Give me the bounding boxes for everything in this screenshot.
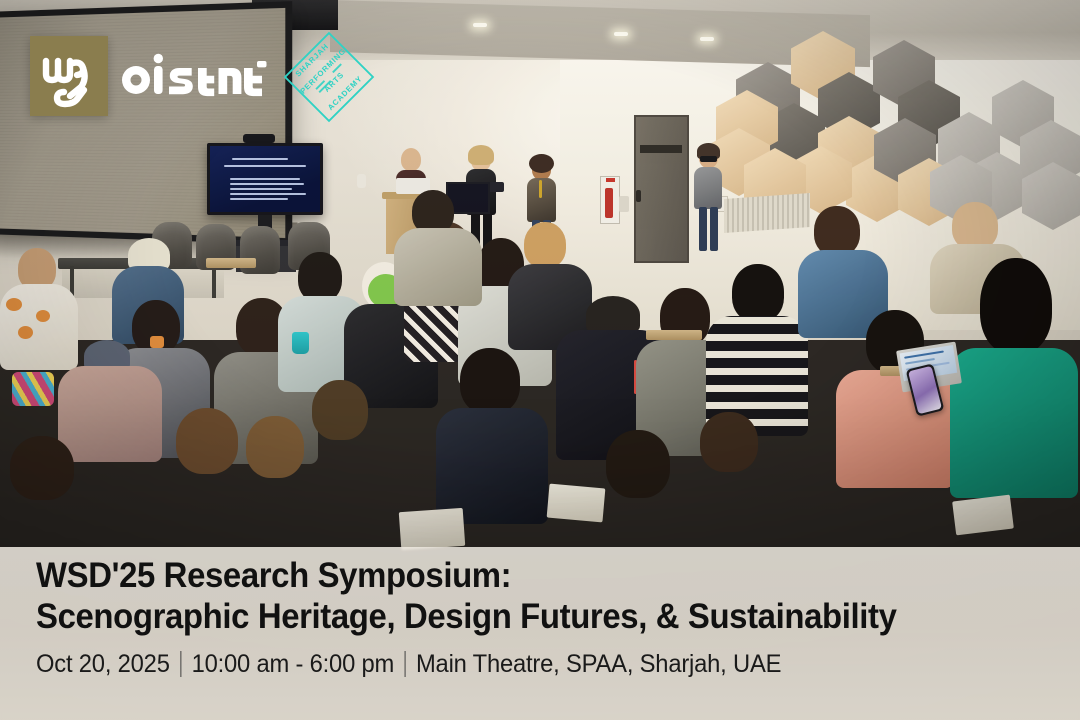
- logo-row: [30, 36, 268, 116]
- meta-divider: [180, 651, 181, 677]
- poster-canvas: SHARJAH PERFORMING ARTS ACADEMY: [0, 0, 1080, 720]
- attendee-head: [460, 348, 520, 414]
- banner-text-block: WSD'25 Research Symposium: Scenographic …: [36, 555, 1070, 679]
- attendee-body: [436, 408, 548, 524]
- notebook: [952, 495, 1014, 536]
- attendee-body: [58, 366, 162, 462]
- attendee-head: [980, 258, 1052, 354]
- wsd-logo: [30, 36, 108, 116]
- event-meta: Oct 20, 2025 10:00 am - 6:00 pm Main The…: [36, 649, 1018, 679]
- attendee-head: [606, 430, 670, 498]
- ceiling-light: [614, 32, 628, 36]
- patterned-bag: [12, 372, 54, 406]
- attendee-body: [950, 348, 1078, 498]
- tablet-arm: [646, 330, 702, 340]
- oistat-logo: [122, 52, 268, 100]
- webcam: [243, 134, 275, 143]
- notebook: [399, 508, 465, 550]
- attendee-head: [952, 202, 998, 250]
- title-banner: WSD'25 Research Symposium: Scenographic …: [0, 547, 1080, 720]
- event-venue: Main Theatre, SPAA, Sharjah, UAE: [416, 649, 781, 679]
- attendee-head: [176, 408, 238, 474]
- attendee-head: [814, 206, 860, 256]
- meta-divider: [405, 651, 406, 677]
- attendee-head: [10, 436, 74, 500]
- title-line-2: Scenographic Heritage, Design Futures, &…: [36, 596, 1008, 637]
- attendee-head: [312, 380, 368, 440]
- attendee-head: [298, 252, 342, 302]
- attendee-head: [246, 416, 304, 478]
- attendee-head: [732, 264, 784, 322]
- attendee-body: [0, 284, 78, 370]
- event-date: Oct 20, 2025: [36, 649, 170, 679]
- event-time: 10:00 am - 6:00 pm: [192, 649, 395, 679]
- attendee-body: [394, 228, 482, 306]
- door-vent: [640, 145, 682, 153]
- attendee-head-cap: [586, 296, 640, 334]
- water-bottle: [292, 332, 309, 354]
- notebook: [547, 484, 606, 523]
- attendee-head: [700, 412, 758, 472]
- tablet-arm: [206, 258, 256, 268]
- attendee-head: [524, 222, 566, 268]
- ceiling-light: [473, 23, 487, 27]
- title-line-1: WSD'25 Research Symposium:: [36, 555, 1008, 596]
